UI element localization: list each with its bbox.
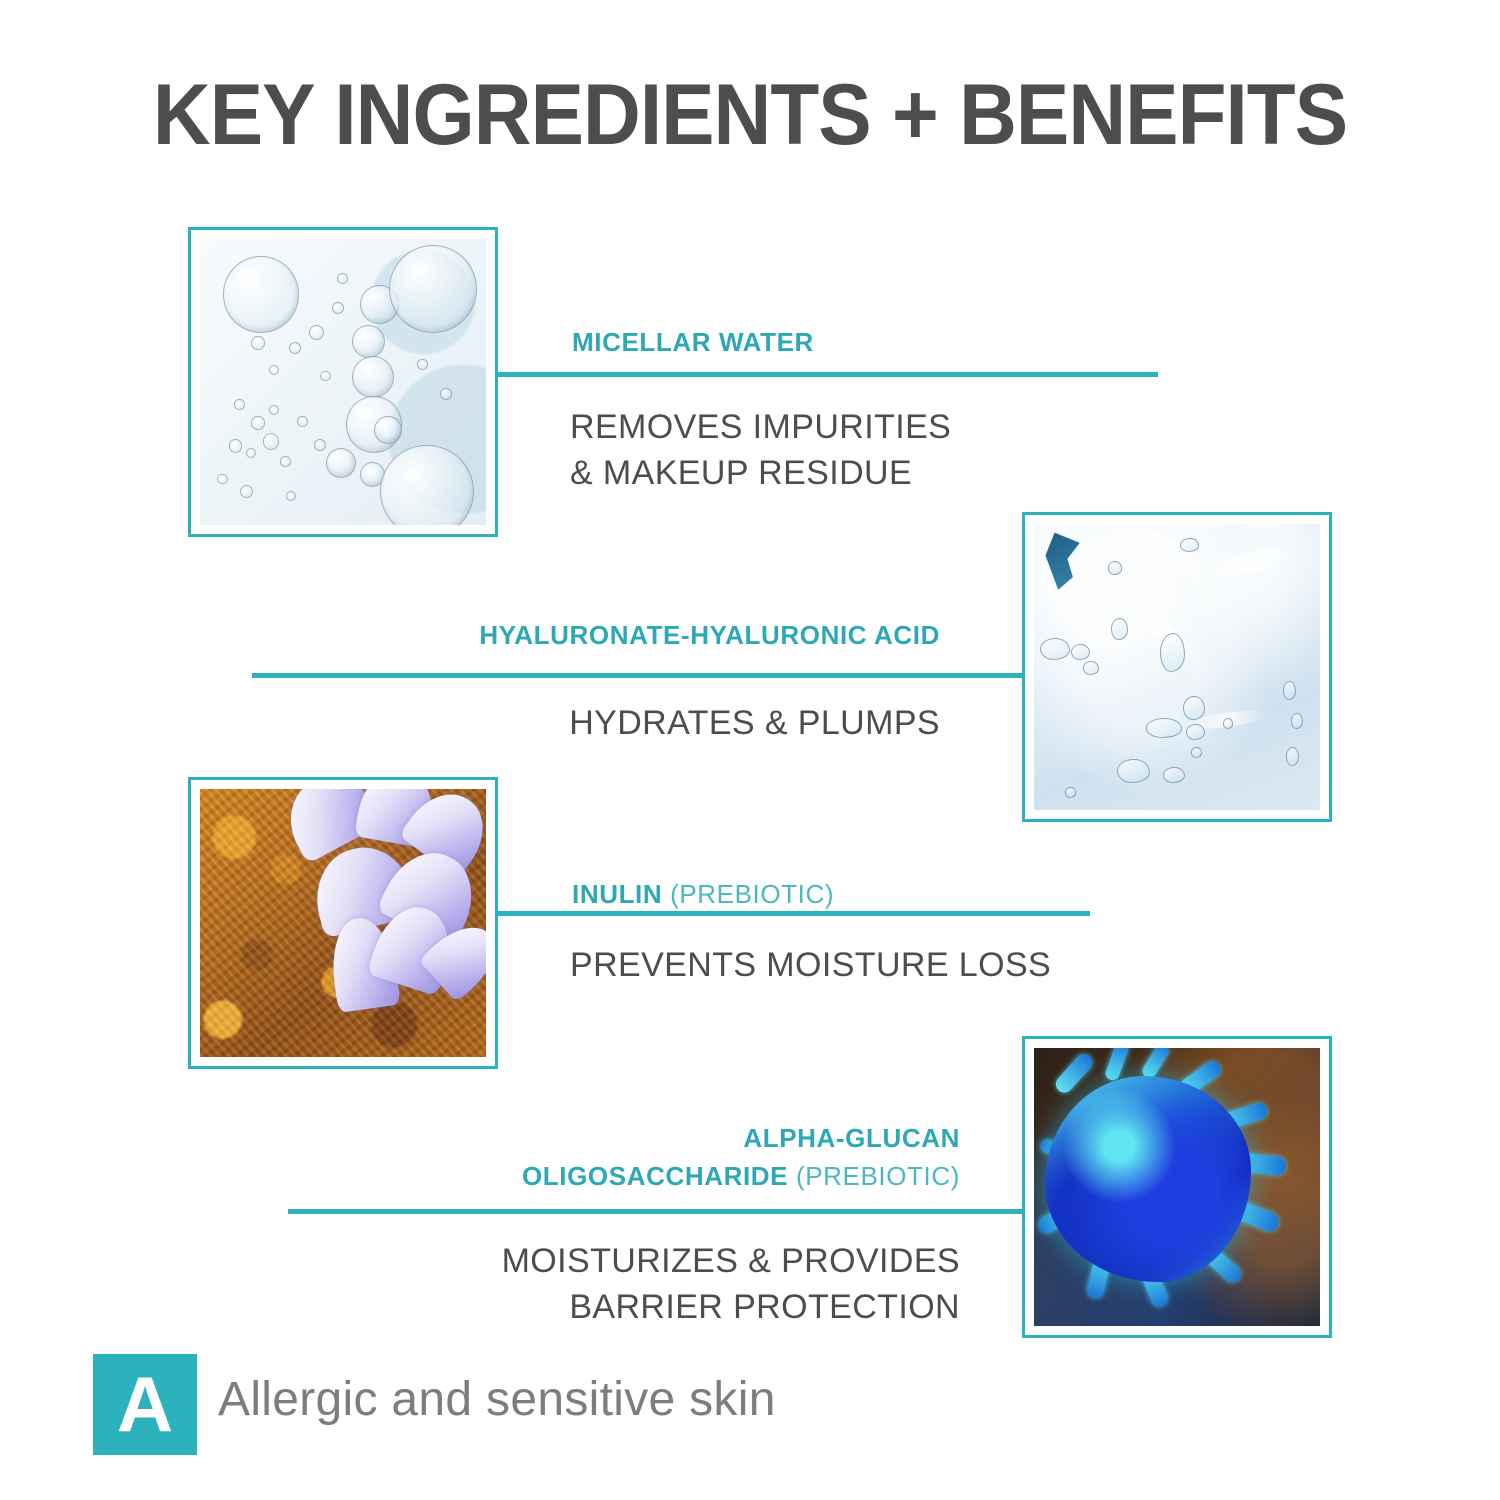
photo-inner (1034, 1048, 1320, 1326)
ingredient-name-line2: OLIGOSACCHARIDE (522, 1161, 788, 1191)
photo-inner (200, 239, 486, 525)
ingredient-heading-inulin: INULIN (PREBIOTIC) (572, 879, 834, 910)
inulin-chicory-photo (188, 777, 498, 1069)
hyaluronic-gel-photo (1022, 512, 1332, 822)
allergic-skin-badge: A (93, 1354, 197, 1455)
bubble-texture (200, 239, 486, 525)
microbe-body (1045, 1076, 1251, 1282)
ingredient-qualifier: (PREBIOTIC) (796, 1161, 960, 1191)
connector-rule-inulin (498, 911, 1090, 916)
connector-rule-micellar (498, 372, 1158, 377)
ingredient-name: INULIN (572, 879, 662, 909)
ingredient-benefit-alpha-glucan: MOISTURIZES & PROVIDES BARRIER PROTECTIO… (300, 1238, 960, 1330)
ingredient-benefit-hyaluronate: HYDRATES & PLUMPS (260, 700, 940, 746)
allergic-skin-label: Allergic and sensitive skin (218, 1372, 776, 1427)
gel-texture (1034, 524, 1320, 810)
photo-inner (200, 789, 486, 1057)
infographic-canvas: KEY INGREDIENTS + BENEFITS (0, 0, 1500, 1500)
page-title: KEY INGREDIENTS + BENEFITS (53, 66, 1448, 165)
ingredient-heading-alpha-glucan: ALPHA-GLUCAN OLIGOSACCHARIDE (PREBIOTIC) (300, 1119, 960, 1195)
ingredient-heading-hyaluronate: HYALURONATE-HYALURONIC ACID (260, 620, 940, 651)
ingredient-heading-micellar-water: MICELLAR WATER (572, 327, 814, 358)
connector-rule-alpha-glucan (288, 1209, 1024, 1214)
ingredient-name: HYALURONATE-HYALURONIC ACID (479, 620, 940, 650)
microbe-texture (1034, 1048, 1320, 1326)
chicory-texture (200, 789, 486, 1057)
photo-inner (1034, 524, 1320, 810)
micellar-water-bubbles-photo (188, 227, 498, 537)
ingredient-qualifier: (PREBIOTIC) (670, 879, 834, 909)
ingredient-benefit-micellar-water: REMOVES IMPURITIES & MAKEUP RESIDUE (570, 404, 1190, 496)
alpha-glucan-microbe-photo (1022, 1036, 1332, 1338)
ingredient-name-line1: ALPHA-GLUCAN (743, 1123, 960, 1153)
ingredient-name: MICELLAR WATER (572, 327, 814, 357)
connector-rule-hyaluronate (252, 673, 1024, 678)
ingredient-benefit-inulin: PREVENTS MOISTURE LOSS (570, 942, 1190, 988)
